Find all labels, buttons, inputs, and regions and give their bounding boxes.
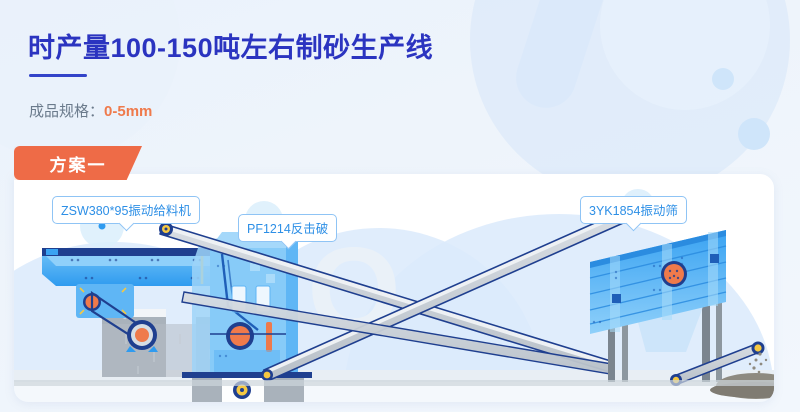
- plan-badge: 方案一: [14, 146, 142, 180]
- title-underline: [29, 74, 87, 77]
- spec-value: 0-5mm: [104, 103, 152, 120]
- callout-crusher[interactable]: PF1214反击破: [238, 214, 337, 242]
- decor-pill: [508, 0, 611, 116]
- spec-line: 成品规格：0-5mm: [29, 100, 152, 121]
- diagram-card: OO: [14, 174, 774, 402]
- decor-dot-small: [712, 68, 734, 90]
- decor-circle-medium: [600, 0, 770, 110]
- callout-feeder[interactable]: ZSW380*95振动给料机: [52, 196, 200, 224]
- decor-circle-large: [470, 0, 790, 200]
- decor-circle-left: [0, 0, 180, 160]
- page-title: 时产量100-150吨左右制砂生产线: [28, 26, 433, 65]
- decor-dot-large: [738, 118, 770, 150]
- spec-label: 成品规格：: [29, 103, 104, 120]
- callout-screen[interactable]: 3YK1854振动筛: [580, 196, 687, 224]
- page-root: 时产量100-150吨左右制砂生产线 成品规格：0-5mm 方案一 OO: [0, 0, 800, 412]
